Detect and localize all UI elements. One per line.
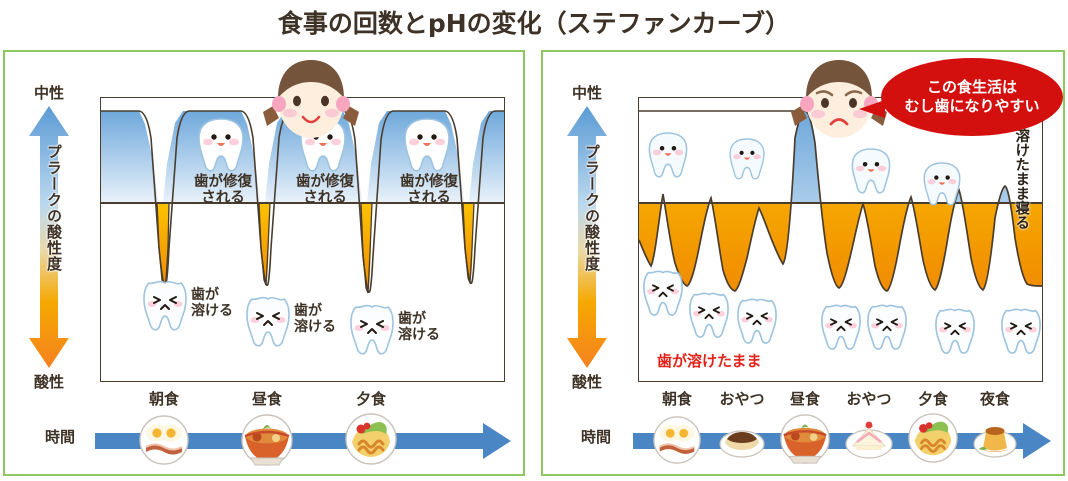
- meal-label: おやつ: [846, 388, 891, 409]
- sad-tooth-icon: [933, 306, 977, 356]
- happy-tooth-icon: [849, 146, 893, 196]
- pudding-icon: [973, 418, 1017, 460]
- sleep-with-dissolved-teeth-note: 溶けたまま寝る: [1013, 128, 1028, 230]
- left-panel-three-meals: 中性 プラークの酸性度 酸性: [3, 50, 525, 476]
- meal-label: 昼食: [252, 388, 282, 409]
- meal-label: 夕食: [356, 388, 386, 409]
- repair-note: 歯が修復 される: [285, 174, 365, 206]
- page-title: 食事の回数とpHの変化（ステファンカーブ）: [0, 4, 1068, 40]
- eggs-bacon-icon: [138, 414, 190, 466]
- sad-tooth-icon: [999, 306, 1043, 356]
- acidic-label: 酸性: [561, 371, 613, 392]
- meal-label: 昼食: [790, 388, 820, 409]
- warning-speech-bubble: この食生活は むし歯になりやすい: [881, 58, 1063, 136]
- neutral-label: 中性: [561, 82, 613, 103]
- sad-tooth-icon: [641, 268, 685, 318]
- acidic-label: 酸性: [23, 371, 75, 392]
- plaque-acidity-label: プラークの酸性度: [575, 144, 599, 272]
- dissolve-note: 歯が 溶ける: [398, 312, 440, 343]
- cake-icon: [845, 416, 893, 460]
- sad-tooth-icon: [735, 296, 779, 346]
- meal-label: 朝食: [662, 388, 692, 409]
- time-axis-label: 時間: [45, 426, 75, 447]
- ph-axis-arrow-left: 中性 プラークの酸性度 酸性: [23, 82, 75, 392]
- girl-face-sad-icon: [785, 54, 893, 142]
- happy-tooth-icon: [646, 130, 690, 180]
- dissolve-note: 歯が 溶ける: [191, 288, 233, 319]
- sad-tooth-icon: [141, 278, 189, 333]
- right-panel-frequent-snacks: 中性 プラークの酸性度 酸性: [541, 50, 1065, 476]
- eggs-bacon-icon: [652, 415, 702, 465]
- sad-tooth-icon: [819, 302, 863, 352]
- ph-axis-arrow-right: 中性 プラークの酸性度 酸性: [561, 82, 613, 392]
- happy-tooth-icon: [921, 160, 963, 208]
- meal-label: 夜食: [980, 388, 1010, 409]
- teeth-stay-dissolved-note: 歯が溶けたまま: [657, 350, 762, 371]
- sad-tooth-icon: [687, 290, 731, 340]
- plaque-acidity-label: プラークの酸性度: [37, 144, 61, 272]
- happy-tooth-icon: [195, 116, 247, 174]
- sad-tooth-icon: [348, 302, 396, 357]
- time-axis-label: 時間: [581, 426, 611, 447]
- meal-label: 朝食: [149, 388, 179, 409]
- sad-tooth-icon: [244, 294, 292, 349]
- repair-note: 歯が修復 される: [389, 174, 469, 206]
- happy-tooth-icon: [727, 136, 767, 182]
- eclair-icon: [719, 422, 765, 458]
- meal-label: おやつ: [719, 388, 764, 409]
- pasta-icon: [907, 412, 959, 464]
- sad-tooth-icon: [865, 302, 909, 352]
- pasta-icon: [344, 412, 398, 466]
- ramen-bowl-icon: [778, 412, 832, 466]
- repair-note: 歯が修復 される: [183, 174, 263, 206]
- ramen-bowl-icon: [239, 412, 295, 468]
- neutral-label: 中性: [23, 82, 75, 103]
- dissolve-note: 歯が 溶ける: [294, 304, 336, 335]
- girl-face-happy-icon: [257, 54, 365, 142]
- happy-tooth-icon: [401, 116, 453, 174]
- meal-label: 夕食: [918, 388, 948, 409]
